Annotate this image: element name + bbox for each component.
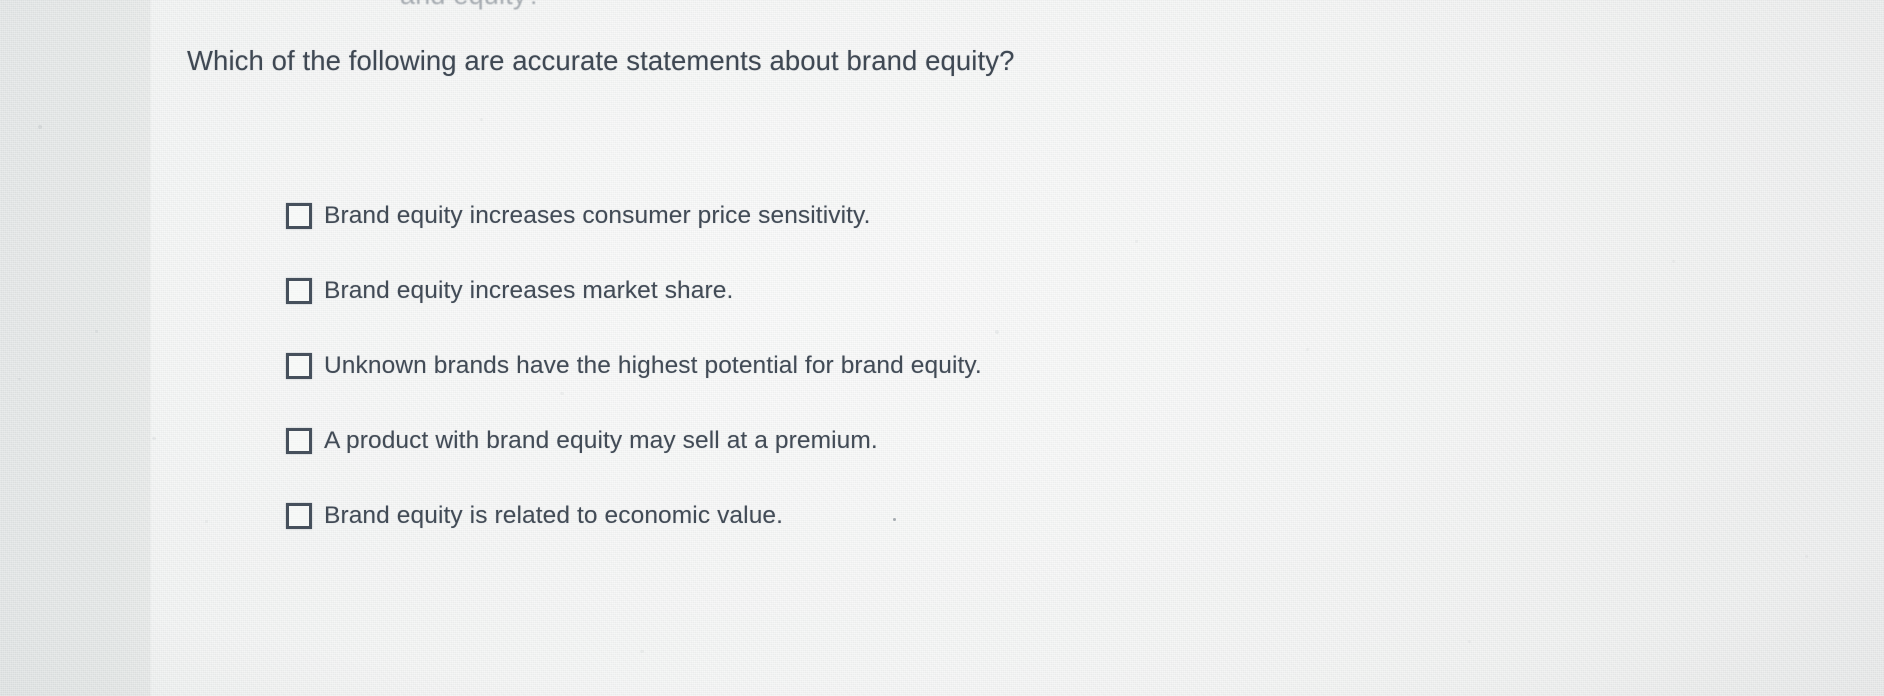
answer-option-5[interactable]: Brand equity is related to economic valu…: [286, 496, 1386, 536]
answer-option-label[interactable]: A product with brand equity may sell at …: [324, 426, 878, 456]
answer-options-list: Brand equity increases consumer price se…: [286, 196, 1386, 571]
answer-option-4[interactable]: A product with brand equity may sell at …: [286, 421, 1386, 461]
checkbox-icon[interactable]: [286, 353, 312, 379]
quiz-content: and equity? Which of the following are a…: [0, 0, 1884, 696]
answer-option-label[interactable]: Unknown brands have the highest potentia…: [324, 351, 982, 381]
checkbox-icon[interactable]: [286, 278, 312, 304]
answer-option-1[interactable]: Brand equity increases consumer price se…: [286, 196, 1386, 236]
answer-option-label[interactable]: Brand equity is related to economic valu…: [324, 501, 783, 531]
question-photo: and equity? Which of the following are a…: [0, 0, 1884, 696]
cropped-top-text-fragment: and equity?: [400, 0, 542, 11]
answer-option-label[interactable]: Brand equity increases market share.: [324, 276, 733, 306]
question-text: Which of the following are accurate stat…: [187, 43, 1015, 79]
answer-option-label[interactable]: Brand equity increases consumer price se…: [324, 201, 871, 231]
checkbox-icon[interactable]: [286, 428, 312, 454]
answer-option-3[interactable]: Unknown brands have the highest potentia…: [286, 346, 1386, 386]
stray-ink-mark: [893, 518, 896, 521]
answer-option-2[interactable]: Brand equity increases market share.: [286, 271, 1386, 311]
checkbox-icon[interactable]: [286, 503, 312, 529]
checkbox-icon[interactable]: [286, 203, 312, 229]
